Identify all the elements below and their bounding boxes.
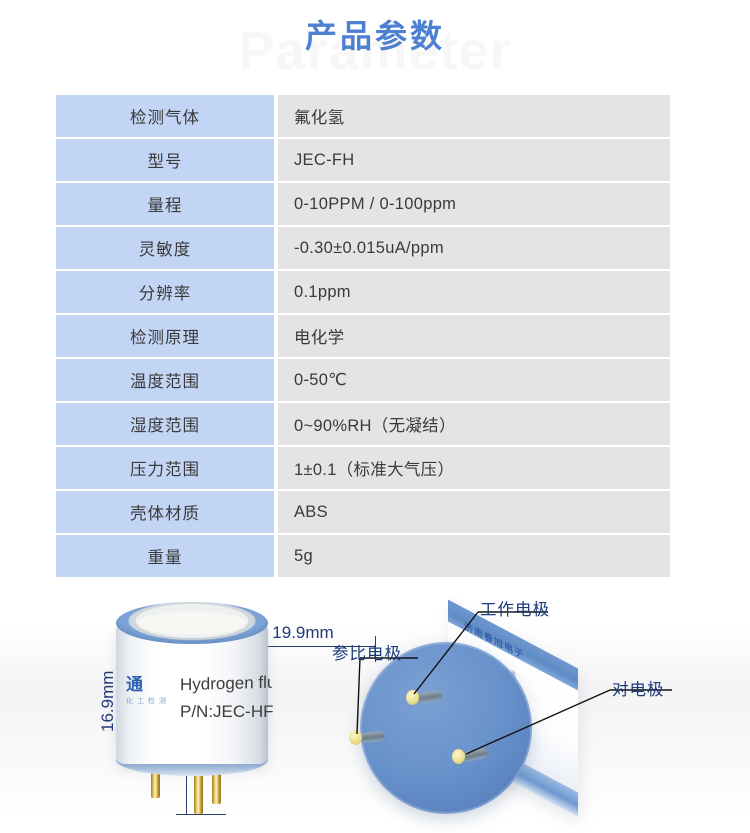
- spec-value-cell: 0~90%RH（无凝结）: [278, 403, 670, 445]
- electrode-tip: [349, 730, 362, 745]
- spec-value-cell: 0-10PPM / 0-100ppm: [278, 183, 670, 225]
- spec-value-cell: ABS: [278, 491, 670, 533]
- spec-table: 检测气体氟化氢型号JEC-FH量程0-10PPM / 0-100ppm灵敏度-0…: [56, 95, 670, 579]
- callout-working-electrode: 工作电极: [480, 596, 550, 620]
- spec-value-cell: JEC-FH: [278, 139, 670, 181]
- spec-value-cell: 0-50℃: [278, 359, 670, 401]
- sensor-brand-logo: 通: [126, 676, 182, 693]
- spec-value-cell: 氟化氢: [278, 95, 670, 137]
- electrode-tip: [406, 690, 419, 705]
- spec-label-cell: 检测气体: [56, 95, 274, 137]
- height-dimension-label: 16.9mm: [98, 671, 118, 732]
- page-title: 产品参数: [0, 16, 750, 56]
- table-row: 湿度范围0~90%RH（无凝结）: [56, 403, 670, 445]
- spec-label-cell: 检测原理: [56, 315, 274, 357]
- spec-label-cell: 量程: [56, 183, 274, 225]
- sensor-gas-name: Hydrogen fluoride: [180, 673, 272, 695]
- table-row: 量程0-10PPM / 0-100ppm: [56, 183, 670, 225]
- spec-value-cell: 1±0.1（标准大气压）: [278, 447, 670, 489]
- table-row: 型号JEC-FH: [56, 139, 670, 181]
- spec-label-cell: 湿度范围: [56, 403, 274, 445]
- sensor-part-number: P/N:JEC-HF: [180, 702, 274, 722]
- page-header: Parameter 产品参数: [0, 0, 750, 92]
- spec-value-cell: 电化学: [278, 315, 670, 357]
- callout-reference-electrode: 参比电极: [332, 640, 402, 664]
- spec-label-cell: 温度范围: [56, 359, 274, 401]
- product-image-area: 19.9mm 16.9mm 通 化 工 检 测 Hydrogen fluorid…: [0, 562, 750, 833]
- sensor-membrane: [138, 611, 246, 635]
- spec-label-cell: 分辨率: [56, 271, 274, 313]
- spec-label-cell: 灵敏度: [56, 227, 274, 269]
- left-sensor-figure: 19.9mm 16.9mm 通 化 工 检 测 Hydrogen fluorid…: [108, 614, 280, 814]
- table-row: 压力范围1±0.1（标准大气压）: [56, 447, 670, 489]
- spec-label-cell: 型号: [56, 139, 274, 181]
- table-row: 检测原理电化学: [56, 315, 670, 357]
- table-row: 壳体材质ABS: [56, 491, 670, 533]
- spec-label-cell: 壳体材质: [56, 491, 274, 533]
- spec-value-cell: 0.1ppm: [278, 271, 670, 313]
- sensor-bottom-face-rim: [360, 642, 532, 814]
- height-tick-bottom: [176, 814, 226, 815]
- table-row: 分辨率0.1ppm: [56, 271, 670, 313]
- table-row: 灵敏度-0.30±0.015uA/ppm: [56, 227, 670, 269]
- spec-value-cell: -0.30±0.015uA/ppm: [278, 227, 670, 269]
- electrode-tip: [452, 749, 465, 764]
- spec-label-cell: 压力范围: [56, 447, 274, 489]
- table-row: 温度范围0-50℃: [56, 359, 670, 401]
- sensor-brand-subtext: 化 工 检 测: [126, 696, 180, 706]
- table-row: 检测气体氟化氢: [56, 95, 670, 137]
- callout-counter-electrode: 对电极: [612, 676, 665, 700]
- right-sensor-figure: 济南春旭电子 化工 检测 仪表 工作电极 参比电极 对电极: [352, 598, 732, 828]
